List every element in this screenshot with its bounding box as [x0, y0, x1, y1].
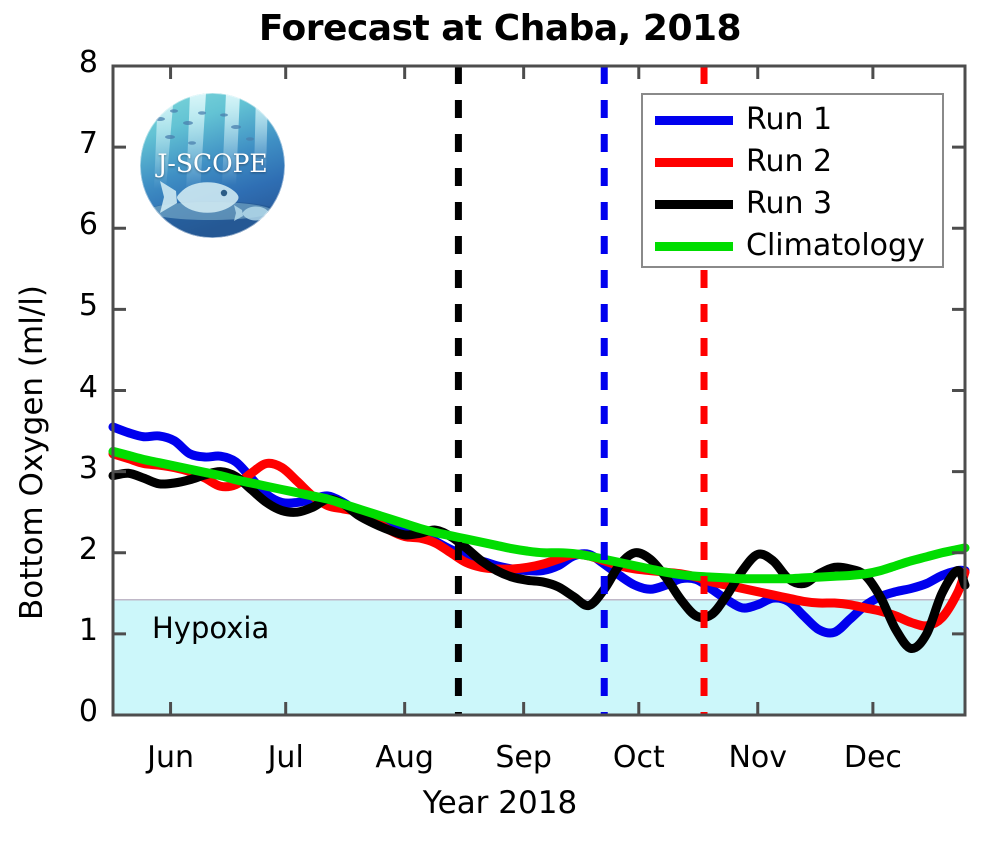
legend-swatch-run-3: [655, 200, 733, 209]
x-tick-label-sep: Sep: [464, 740, 584, 775]
legend-swatch-run-1: [655, 116, 733, 125]
x-tick-label-nov: Nov: [698, 740, 818, 775]
y-axis-label: Bottom Oxygen (ml/l): [14, 285, 50, 620]
x-tick-label-jul: Jul: [226, 740, 346, 775]
x-axis-label: Year 2018: [0, 785, 1000, 821]
legend-swatch-climatology: [655, 242, 733, 251]
forecast-chart-figure: Forecast at Chaba, 2018 Bottom Oxygen (m…: [0, 0, 1000, 845]
y-tick-label-8: 8: [58, 45, 98, 80]
legend-item-run-2[interactable]: Run 2: [643, 141, 942, 183]
logo-text: J-SCOPE: [140, 149, 285, 178]
y-tick-label-1: 1: [58, 613, 98, 648]
legend-swatch-run-2: [655, 158, 733, 167]
legend-label-run-1: Run 1: [746, 105, 832, 135]
legend-label-run-2: Run 2: [746, 147, 832, 177]
y-tick-label-5: 5: [58, 288, 98, 323]
x-tick-label-jun: Jun: [111, 740, 231, 775]
legend-label-climatology: Climatology: [746, 231, 925, 261]
chart-legend: Run 1 Run 2 Run 3 Climatology: [641, 93, 944, 268]
y-tick-label-4: 4: [58, 370, 98, 405]
y-tick-label-3: 3: [58, 451, 98, 486]
y-tick-label-6: 6: [58, 207, 98, 242]
legend-item-run-3[interactable]: Run 3: [643, 183, 942, 225]
hypoxia-region-label: Hypoxia: [152, 611, 269, 645]
x-tick-label-aug: Aug: [345, 740, 465, 775]
x-tick-label-oct: Oct: [579, 740, 699, 775]
j-scope-logo: J-SCOPE: [140, 93, 285, 238]
x-tick-label-dec: Dec: [813, 740, 933, 775]
y-tick-label-7: 7: [58, 126, 98, 161]
legend-item-run-1[interactable]: Run 1: [643, 99, 942, 141]
legend-label-run-3: Run 3: [746, 189, 832, 219]
y-tick-label-0: 0: [58, 694, 98, 729]
legend-item-climatology[interactable]: Climatology: [643, 225, 942, 267]
y-tick-label-2: 2: [58, 532, 98, 567]
